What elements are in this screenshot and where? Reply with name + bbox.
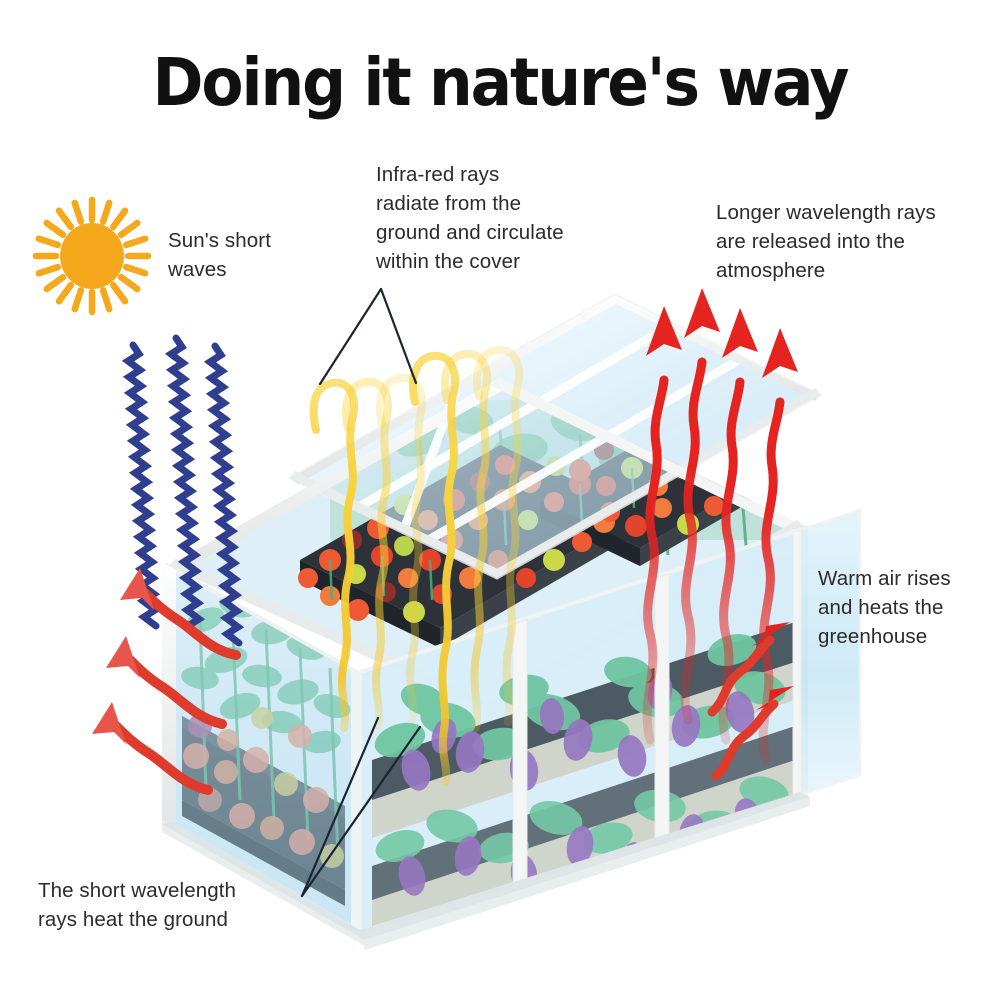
leader-line-infrared-right bbox=[381, 289, 416, 383]
callout-sun-short-waves: Sun's short waves bbox=[168, 226, 358, 284]
callout-warm-air: Warm air rises and heats the greenhouse bbox=[818, 564, 998, 651]
callout-infrared-rays: Infra-red rays radiate from the ground a… bbox=[376, 160, 616, 276]
callout-short-wavelength-ground: The short wavelength rays heat the groun… bbox=[38, 876, 298, 934]
arrowhead-3 bbox=[722, 308, 758, 358]
greenhouse bbox=[150, 295, 860, 950]
sun-icon bbox=[36, 200, 148, 312]
callout-longer-wavelength: Longer wavelength rays are released into… bbox=[716, 198, 984, 285]
illustration-canvas bbox=[0, 0, 1000, 1000]
greenhouse-infographic: Doing it nature's way bbox=[0, 0, 1000, 1000]
arrowhead-2 bbox=[684, 288, 720, 338]
left-heat-arrowhead-group bbox=[92, 568, 154, 744]
leader-line-infrared-left bbox=[320, 289, 381, 384]
arrowhead-4 bbox=[762, 328, 798, 378]
left-arrowhead-3 bbox=[92, 702, 126, 744]
left-arrowhead-2 bbox=[106, 636, 140, 678]
greenhouse-right-end bbox=[800, 510, 860, 795]
